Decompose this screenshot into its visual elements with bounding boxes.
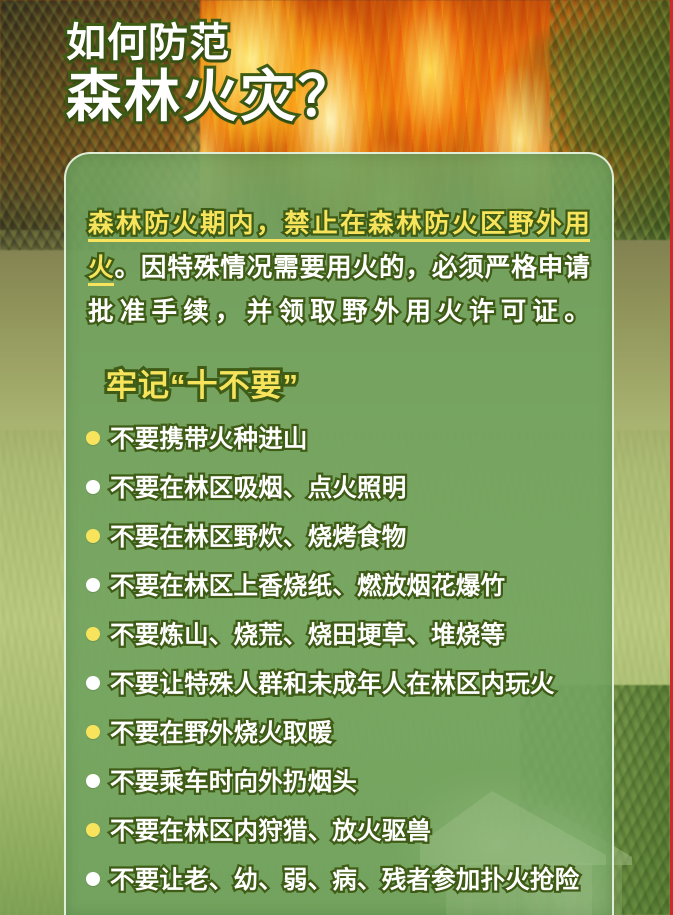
list-item: 不要在林区吸烟、点火照明 xyxy=(66,462,612,511)
bullet-dot-icon xyxy=(86,529,100,543)
list-item-label: 不要乘车时向外扔烟头 xyxy=(110,763,357,798)
intro-rest-text: 。因特殊情况需要用火的，必须严格申请批准手续，并领取野外用火许可证。 xyxy=(88,254,590,326)
list-item: 不要携带火种进山 xyxy=(66,413,612,462)
list-item-label: 不要携带火种进山 xyxy=(110,420,308,455)
rules-list: 不要携带火种进山不要在林区吸烟、点火照明不要在林区野炊、烧烤食物不要在林区上香烧… xyxy=(66,413,612,903)
list-item-label: 不要在林区野炊、烧烤食物 xyxy=(110,518,406,553)
list-item: 不要在林区内狩猎、放火驱兽 xyxy=(66,805,612,854)
list-item-label: 不要在野外烧火取暖 xyxy=(110,714,332,749)
list-item: 不要在林区野炊、烧烤食物 xyxy=(66,511,612,560)
list-item-label: 不要让特殊人群和未成年人在林区内玩火 xyxy=(110,665,555,700)
bullet-dot-icon xyxy=(86,676,100,690)
intro-paragraph: 森林防火期内，禁止在森林防火区野外用火。因特殊情况需要用火的，必须严格申请批准手… xyxy=(88,202,590,334)
card-content: 森林防火期内，禁止在森林防火区野外用火。因特殊情况需要用火的，必须严格申请批准手… xyxy=(66,202,612,903)
list-item-label: 不要炼山、烧荒、烧田埂草、堆烧等 xyxy=(110,616,505,651)
bullet-dot-icon xyxy=(86,627,100,641)
list-item: 不要让特殊人群和未成年人在林区内玩火 xyxy=(66,658,612,707)
bullet-dot-icon xyxy=(86,774,100,788)
bullet-dot-icon xyxy=(86,823,100,837)
poster-header: 如何防范 森林火灾？ xyxy=(0,0,673,150)
list-item: 不要在林区上香烧纸、燃放烟花爆竹 xyxy=(66,560,612,609)
list-item-label: 不要在林区内狩猎、放火驱兽 xyxy=(110,812,431,847)
bullet-dot-icon xyxy=(86,431,100,445)
list-item-label: 不要在林区吸烟、点火照明 xyxy=(110,469,406,504)
list-item: 不要乘车时向外扔烟头 xyxy=(66,756,612,805)
page-title-line2: 森林火灾？ xyxy=(66,52,356,133)
bullet-dot-icon xyxy=(86,725,100,739)
content-card: 森林防火期内，禁止在森林防火区野外用火。因特殊情况需要用火的，必须严格申请批准手… xyxy=(64,152,614,915)
bullet-dot-icon xyxy=(86,480,100,494)
list-item: 不要让老、幼、弱、病、残者参加扑火抢险 xyxy=(66,854,612,903)
poster-root: 如何防范 森林火灾？ 森林防火期内，禁止在森林防火区野外用火。因特殊情况需要用火… xyxy=(0,0,673,915)
list-item-label: 不要在林区上香烧纸、燃放烟花爆竹 xyxy=(110,567,505,602)
section-subtitle: 牢记“十不要” xyxy=(106,360,612,405)
list-item-label: 不要让老、幼、弱、病、残者参加扑火抢险 xyxy=(110,861,579,896)
list-item: 不要在野外烧火取暖 xyxy=(66,707,612,756)
bullet-dot-icon xyxy=(86,578,100,592)
bullet-dot-icon xyxy=(86,872,100,886)
list-item: 不要炼山、烧荒、烧田埂草、堆烧等 xyxy=(66,609,612,658)
